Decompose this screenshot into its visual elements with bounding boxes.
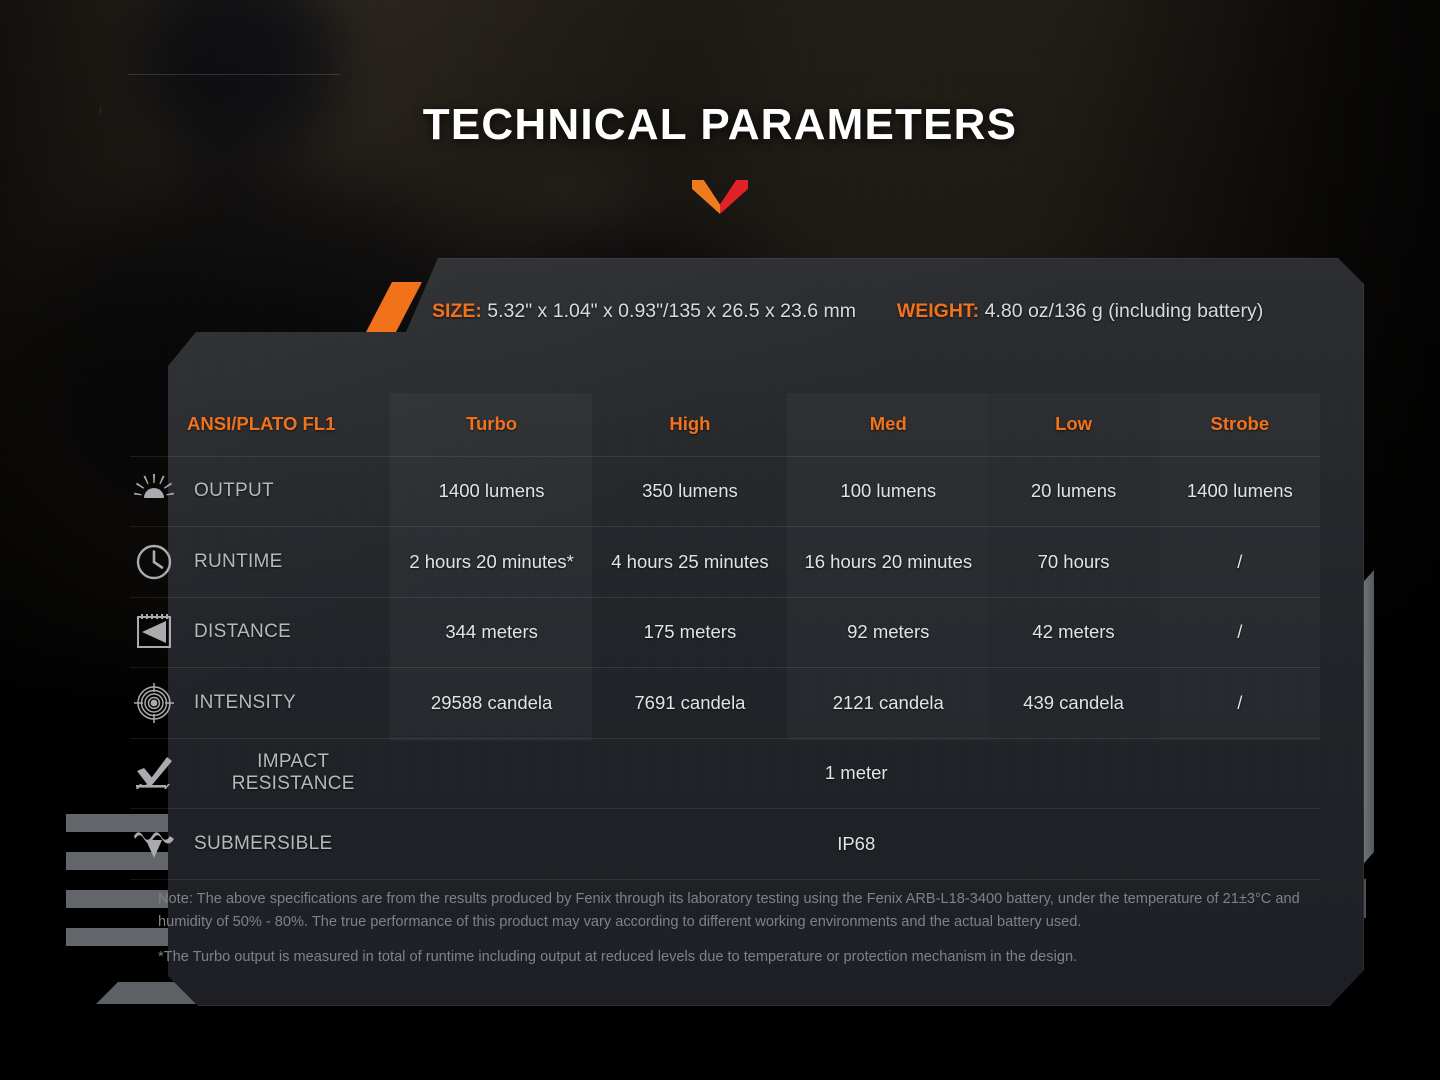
- size-weight-bar: SIZE: 5.32" x 1.04" x 0.93"/135 x 26.5 x…: [432, 300, 1263, 323]
- note-turbo-asterisk: *The Turbo output is measured in total o…: [158, 946, 1306, 969]
- cell-submersible-value: IP68: [392, 809, 1320, 880]
- row-label-text: SUBMERSIBLE: [194, 833, 332, 855]
- table-row: OUTPUT 1400 lumens 350 lumens 100 lumens…: [130, 456, 1320, 527]
- table-row: INTENSITY 29588 candela 7691 candela 212…: [130, 668, 1320, 739]
- row-label-output: OUTPUT: [130, 456, 392, 527]
- row-label-distance: DISTANCE: [130, 597, 392, 668]
- table-header-row: ANSI/PLATO FL1 Turbo High Med Low Strobe: [130, 393, 1320, 456]
- column-header-ansi: ANSI/PLATO FL1: [130, 393, 392, 456]
- column-header-turbo: Turbo: [392, 393, 590, 456]
- sun-icon: [130, 469, 178, 513]
- cell-output-high: 350 lumens: [591, 456, 789, 527]
- row-label-runtime: RUNTIME: [130, 527, 392, 598]
- row-label-intensity: INTENSITY: [130, 668, 392, 739]
- row-label-text: RUNTIME: [194, 551, 283, 573]
- cell-intensity-low: 439 candela: [987, 668, 1159, 739]
- clock-icon: [130, 540, 178, 584]
- cell-intensity-turbo: 29588 candela: [392, 668, 590, 739]
- cell-runtime-strobe: /: [1160, 527, 1320, 598]
- cell-distance-strobe: /: [1160, 597, 1320, 668]
- row-label-submersible: SUBMERSIBLE: [130, 809, 392, 880]
- chevron-left-half: [692, 180, 720, 214]
- notes-block: Note: The above specifications are from …: [158, 888, 1306, 969]
- cell-output-med: 100 lumens: [789, 456, 987, 527]
- chevron-down-icon: [692, 180, 748, 214]
- cell-intensity-high: 7691 candela: [591, 668, 789, 739]
- row-label-impact-resistance: IMPACT RESISTANCE: [130, 738, 392, 809]
- beam-distance-icon: [130, 610, 178, 654]
- page-title: TECHNICAL PARAMETERS: [0, 100, 1440, 150]
- table-row: IMPACT RESISTANCE 1 meter: [130, 738, 1320, 809]
- table-row: DISTANCE 344 meters 175 meters 92 meters…: [130, 597, 1320, 668]
- cell-runtime-med: 16 hours 20 minutes: [789, 527, 987, 598]
- size-label: SIZE:: [432, 300, 482, 322]
- cell-intensity-strobe: /: [1160, 668, 1320, 739]
- column-header-strobe: Strobe: [1160, 393, 1320, 456]
- cell-output-turbo: 1400 lumens: [392, 456, 590, 527]
- table-row: RUNTIME 2 hours 20 minutes* 4 hours 25 m…: [130, 527, 1320, 598]
- cell-output-low: 20 lumens: [987, 456, 1159, 527]
- water-submersion-icon: [130, 822, 178, 866]
- cell-runtime-turbo: 2 hours 20 minutes*: [392, 527, 590, 598]
- row-label-text: DISTANCE: [194, 621, 291, 643]
- cell-distance-high: 175 meters: [591, 597, 789, 668]
- column-header-low: Low: [987, 393, 1159, 456]
- column-header-high: High: [591, 393, 789, 456]
- row-label-text: IMPACT RESISTANCE: [194, 751, 392, 795]
- cell-distance-med: 92 meters: [789, 597, 987, 668]
- impact-icon: [130, 751, 178, 795]
- cell-runtime-high: 4 hours 25 minutes: [591, 527, 789, 598]
- chevron-right-half: [720, 180, 748, 214]
- header: TECHNICAL PARAMETERS: [0, 0, 1440, 214]
- cell-runtime-low: 70 hours: [987, 527, 1159, 598]
- cell-distance-low: 42 meters: [987, 597, 1159, 668]
- note-primary: Note: The above specifications are from …: [158, 888, 1306, 933]
- weight-label: WEIGHT:: [897, 300, 979, 322]
- table-row: SUBMERSIBLE IP68: [130, 809, 1320, 880]
- size-value: 5.32" x 1.04" x 0.93"/135 x 26.5 x 23.6 …: [487, 300, 856, 322]
- row-label-text: INTENSITY: [194, 692, 296, 714]
- cell-distance-turbo: 344 meters: [392, 597, 590, 668]
- target-icon: [130, 681, 178, 725]
- row-label-text: OUTPUT: [194, 480, 274, 502]
- cell-intensity-med: 2121 candela: [789, 668, 987, 739]
- specifications-table: ANSI/PLATO FL1 Turbo High Med Low Strobe: [130, 393, 1320, 880]
- column-header-med: Med: [789, 393, 987, 456]
- weight-value: 4.80 oz/136 g (including battery): [985, 300, 1264, 322]
- cell-output-strobe: 1400 lumens: [1160, 456, 1320, 527]
- cell-impact-resistance-value: 1 meter: [392, 738, 1320, 809]
